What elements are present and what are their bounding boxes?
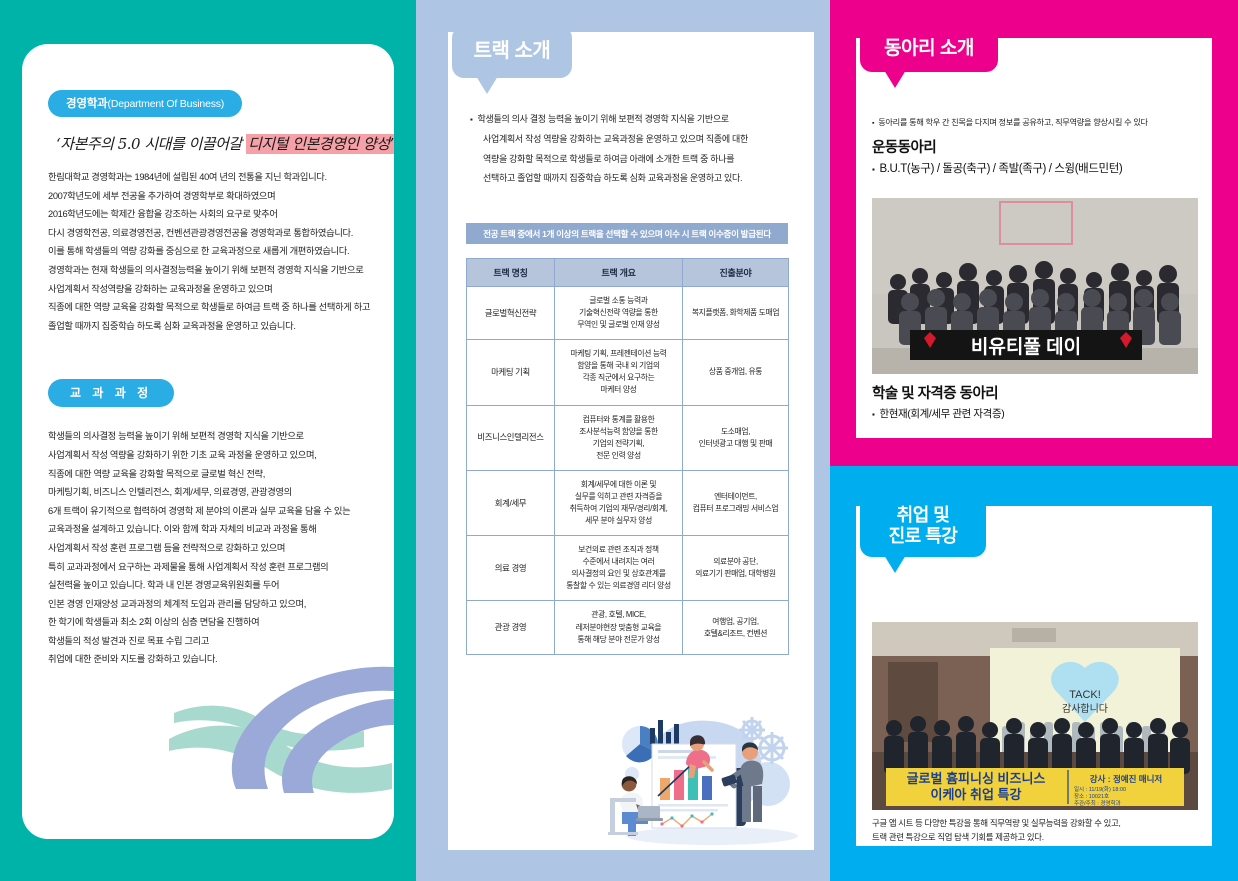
table-row: 비즈니스인텔리전스 컴퓨터와 통계를 활용한조사분석능력 함양을 통한기업의 전… bbox=[467, 405, 789, 470]
intro-line: 2007학년도에 세부 전공을 추가하여 경영학부로 확대하였으며 bbox=[48, 187, 368, 206]
curriculum-text: 학생들의 의사결정 능력을 높이기 위해 보편적 경영학 지식을 기반으로 사업… bbox=[48, 427, 368, 669]
track-field-cell: 도소매업,인터넷광고 대행 및 판매 bbox=[683, 405, 789, 470]
academic-club-block: 학술 및 자격증 동아리 한현재(회계/세무 관련 자격증) bbox=[872, 382, 1198, 421]
sports-club-list: B.U.T(농구) / 돌공(축구) / 족발(족구) / 스윙(배드민턴) bbox=[872, 160, 1196, 176]
track-name-cell: 글로벌혁신전략 bbox=[467, 287, 555, 340]
track-intro-text: 학생들의 의사 결정 능력을 높이기 위해 보편적 경영학 지식을 기반으로 사… bbox=[470, 110, 800, 189]
department-badge: 경영학과(Department Of Business) bbox=[48, 90, 242, 117]
track-name-cell: 비즈니스인텔리전스 bbox=[467, 405, 555, 470]
club-note: 동아리를 통해 학우 간 친목을 다지며 정보를 공유하고, 직무역량을 향상시… bbox=[872, 116, 1196, 128]
curriculum-line: 한 학기에 학생들과 최소 2회 이상의 심층 면담을 진행하여 bbox=[48, 613, 368, 632]
job-photo-screen-text1: TACK! bbox=[1069, 689, 1101, 701]
intro-line: 다시 경영학전공, 의료경영전공, 컨벤션관광경영전공을 경영학과로 통합하였습… bbox=[48, 224, 368, 243]
job-footer-line: 구글 앱 시트 등 다양한 특강을 통해 직무역량 및 실무능력을 강화할 수 … bbox=[872, 816, 1202, 830]
intro-line: 이를 통해 학생들의 역량 강화를 중심으로 한 교육과정으로 새롭게 개편하였… bbox=[48, 242, 368, 261]
table-row: 회계/세무 회계/세무에 대한 이론 및실무를 익히고 관련 자격증을취득하여 … bbox=[467, 470, 789, 535]
job-title-line1: 취업 및 bbox=[897, 505, 950, 525]
job-title-line2: 진로 특강 bbox=[889, 526, 958, 546]
track-summary-cell: 글로벌 소통 능력과기술혁신전략 역량을 통한무역인 및 글로벌 인재 양성 bbox=[555, 287, 683, 340]
track-summary-cell: 관광, 호텔, MICE,레저분야현장 맞춤형 교육을통해 해당 분야 전문가 … bbox=[555, 601, 683, 654]
curriculum-line: 실천력을 높이고 있습니다. 학과 내 인본 경영교육위원회를 두어 bbox=[48, 576, 368, 595]
wave-decoration-icon bbox=[164, 643, 394, 803]
department-badge-en: (Department Of Business) bbox=[108, 98, 225, 110]
table-row: 의료 경영 보건의료 관련 조직과 정책수준에서 내려지는 여러의사결정의 요인… bbox=[467, 536, 789, 601]
curriculum-line: 특히 교과과정에서 요구하는 과제물을 통해 사업계획서 작성 훈련 프로그램의 bbox=[48, 558, 368, 577]
table-header-cell: 트랙 명칭 bbox=[467, 259, 555, 287]
curriculum-badge: 교 과 과 정 bbox=[48, 379, 174, 407]
table-row: 마케팅 기획 마케팅 기획, 프레젠테이션 능력함양을 통해 국내 외 기업의각… bbox=[467, 340, 789, 405]
job-section-title: 취업 및 진로 특강 bbox=[889, 505, 958, 547]
job-footer-line: 트랙 관련 특강으로 직업 탐색 기회를 제공하고 있다. bbox=[872, 830, 1202, 844]
job-photo-banner-line2: 이케아 취업 특강 bbox=[931, 787, 1022, 802]
curriculum-line: 마케팅기획, 비즈니스 인텔리전스, 회계/세무, 의료경영, 관광경영의 bbox=[48, 483, 368, 502]
track-intro-line: 선택하고 졸업할 때까지 집중학습 하도록 심화 교육과정을 운영하고 있다. bbox=[470, 169, 800, 189]
track-summary-cell: 회계/세무에 대한 이론 및실무를 익히고 관련 자격증을취득하여 기업의 재무… bbox=[555, 470, 683, 535]
table-row: 관광 경영 관광, 호텔, MICE,레저분야현장 맞춤형 교육을통해 해당 분… bbox=[467, 601, 789, 654]
intro-line: 경영학과는 현재 학생들의 의사결정능력을 높이기 위해 보편적 경영학 지식을… bbox=[48, 261, 368, 280]
track-summary-cell: 컴퓨터와 통계를 활용한조사분석능력 함양을 통한기업의 전략기획,전문 인력 … bbox=[555, 405, 683, 470]
intro-line: 한림대학교 경영학과는 1984년에 설립된 40여 년의 전통을 지닌 학과입… bbox=[48, 168, 368, 187]
svg-text:일시 : 11/19(화) 18:00: 일시 : 11/19(화) 18:00 bbox=[1074, 785, 1126, 793]
club-section-bubble: 동아리 소개 bbox=[860, 26, 998, 72]
curriculum-line: 직종에 대한 역량 교육을 강화할 목적으로 글로벌 혁신 전략, bbox=[48, 465, 368, 484]
track-name-cell: 의료 경영 bbox=[467, 536, 555, 601]
brochure-page: 경영학과(Department Of Business) ‘자본주의 5.0 시… bbox=[0, 0, 1238, 881]
track-name-cell: 관광 경영 bbox=[467, 601, 555, 654]
department-intro-text: 한림대학교 경영학과는 1984년에 설립된 40여 년의 전통을 지닌 학과입… bbox=[48, 168, 368, 335]
track-name-cell: 회계/세무 bbox=[467, 470, 555, 535]
table-header-row: 트랙 명칭 트랙 개요 진출분야 bbox=[467, 259, 789, 287]
svg-text:주관/주최 : 경영학과: 주관/주최 : 경영학과 bbox=[1074, 799, 1121, 807]
club-photo-banner-text: 비유티풀 데이 bbox=[971, 336, 1081, 358]
job-section-bubble: 취업 및 진로 특강 bbox=[860, 495, 986, 557]
sports-club-heading: 운동동아리 bbox=[872, 136, 1196, 157]
table-header-cell: 트랙 개요 bbox=[555, 259, 683, 287]
job-photo-banner-line1: 글로벌 흄피니싱 비즈니스 bbox=[907, 771, 1046, 786]
curriculum-line: 사업계획서 작성 훈련 프로그램 등을 전략적으로 강화하고 있으며 bbox=[48, 539, 368, 558]
slogan-highlight: 디지털 인본경영인 양성’ bbox=[246, 134, 394, 154]
track-field-cell: 엔터테이먼트,컴퓨터 프로그래밍 서비스업 bbox=[683, 470, 789, 535]
curriculum-line: 사업계획서 작성 역량을 강화하기 위한 기초 교육 과정을 운영하고 있으며, bbox=[48, 446, 368, 465]
table-header-cell: 진출분야 bbox=[683, 259, 789, 287]
track-section-title: 트랙 소개 bbox=[474, 40, 551, 64]
curriculum-line: 6개 트랙이 유기적으로 협력하여 경영학 제 분야의 이론과 실무 교육을 담… bbox=[48, 502, 368, 521]
curriculum-line: 교육과정을 설계하고 있습니다. 이와 함께 학과 자체의 비교과 과정을 통해 bbox=[48, 520, 368, 539]
job-lecture-photo: TACK! 감사합니다 bbox=[872, 622, 1198, 810]
business-analytics-illustration bbox=[600, 700, 820, 850]
track-notice-bar: 전공 트랙 중에서 1개 이상의 트랙을 선택할 수 있으며 이수 시 트랙 이… bbox=[466, 223, 788, 244]
track-field-cell: 여행업, 공기업,호텔&리조트, 컨벤션 bbox=[683, 601, 789, 654]
curriculum-line: 인본 경영 인재양성 교과과정의 체계적 도입과 관리를 담당하고 있으며, bbox=[48, 595, 368, 614]
job-photo-banner-side: 강사 : 정예진 매니저 bbox=[1090, 774, 1162, 784]
job-photo-screen-text2: 감사합니다 bbox=[1062, 703, 1108, 715]
svg-text:장소 : 10021호: 장소 : 10021호 bbox=[1074, 793, 1109, 800]
intro-line: 졸업할 때까지 집중학습 하도록 심화 교육과정을 운영하고 있습니다. bbox=[48, 317, 368, 336]
curriculum-line: 학생들의 의사결정 능력을 높이기 위해 보편적 경영학 지식을 기반으로 bbox=[48, 427, 368, 446]
slogan-prefix: ‘자본주의 5.0 시대를 이끌어갈 bbox=[56, 135, 246, 153]
track-section-bubble: 트랙 소개 bbox=[452, 26, 572, 78]
academic-club-list: 한현재(회계/세무 관련 자격증) bbox=[872, 406, 1198, 421]
track-summary-cell: 마케팅 기획, 프레젠테이션 능력함양을 통해 국내 외 기업의각종 직군에서 … bbox=[555, 340, 683, 405]
track-field-cell: 상품 중개업, 유통 bbox=[683, 340, 789, 405]
table-row: 글로벌혁신전략 글로벌 소통 능력과기술혁신전략 역량을 통한무역인 및 글로벌… bbox=[467, 287, 789, 340]
track-summary-cell: 보건의료 관련 조직과 정책수준에서 내려지는 여러의사결정의 요인 및 상호관… bbox=[555, 536, 683, 601]
intro-line: 2016학년도에는 학제간 융합을 강조하는 사회의 요구로 맞추어 bbox=[48, 205, 368, 224]
track-intro-line: 학생들의 의사 결정 능력을 높이기 위해 보편적 경영학 지식을 기반으로 bbox=[470, 110, 800, 130]
academic-club-heading: 학술 및 자격증 동아리 bbox=[872, 382, 1198, 403]
department-slogan: ‘자본주의 5.0 시대를 이끌어갈 디지털 인본경영인 양성’ bbox=[56, 133, 368, 154]
club-group-photo: 비유티풀 데이 bbox=[872, 198, 1198, 374]
intro-line: 사업계획서 작성역량을 강화하는 교육과정을 운영하고 있으며 bbox=[48, 280, 368, 299]
track-intro-line: 역량을 강화할 목적으로 학생들로 하여금 아래에 소개한 트랙 중 하나를 bbox=[470, 150, 800, 170]
track-name-cell: 마케팅 기획 bbox=[467, 340, 555, 405]
intro-line: 직종에 대한 역량 교육을 강화할 목적으로 학생들로 하여금 트랙 중 하나를… bbox=[48, 298, 368, 317]
track-field-cell: 복지플랫폼, 화학제품 도매업 bbox=[683, 287, 789, 340]
track-field-cell: 의료분야 공단,의료기기 판매업, 대학병원 bbox=[683, 536, 789, 601]
job-lecture-footer: 구글 앱 시트 등 다양한 특강을 통해 직무역량 및 실무능력을 강화할 수 … bbox=[872, 816, 1202, 845]
track-intro-line: 사업계획서 작성 역량을 강화하는 교육과정을 운영하고 있으며 직종에 대한 bbox=[470, 130, 800, 150]
department-card: 경영학과(Department Of Business) ‘자본주의 5.0 시… bbox=[22, 44, 394, 839]
track-table: 트랙 명칭 트랙 개요 진출분야 글로벌혁신전략 글로벌 소통 능력과기술혁신전… bbox=[466, 258, 789, 655]
department-badge-ko: 경영학과 bbox=[66, 98, 108, 110]
club-section-title: 동아리 소개 bbox=[884, 38, 974, 60]
